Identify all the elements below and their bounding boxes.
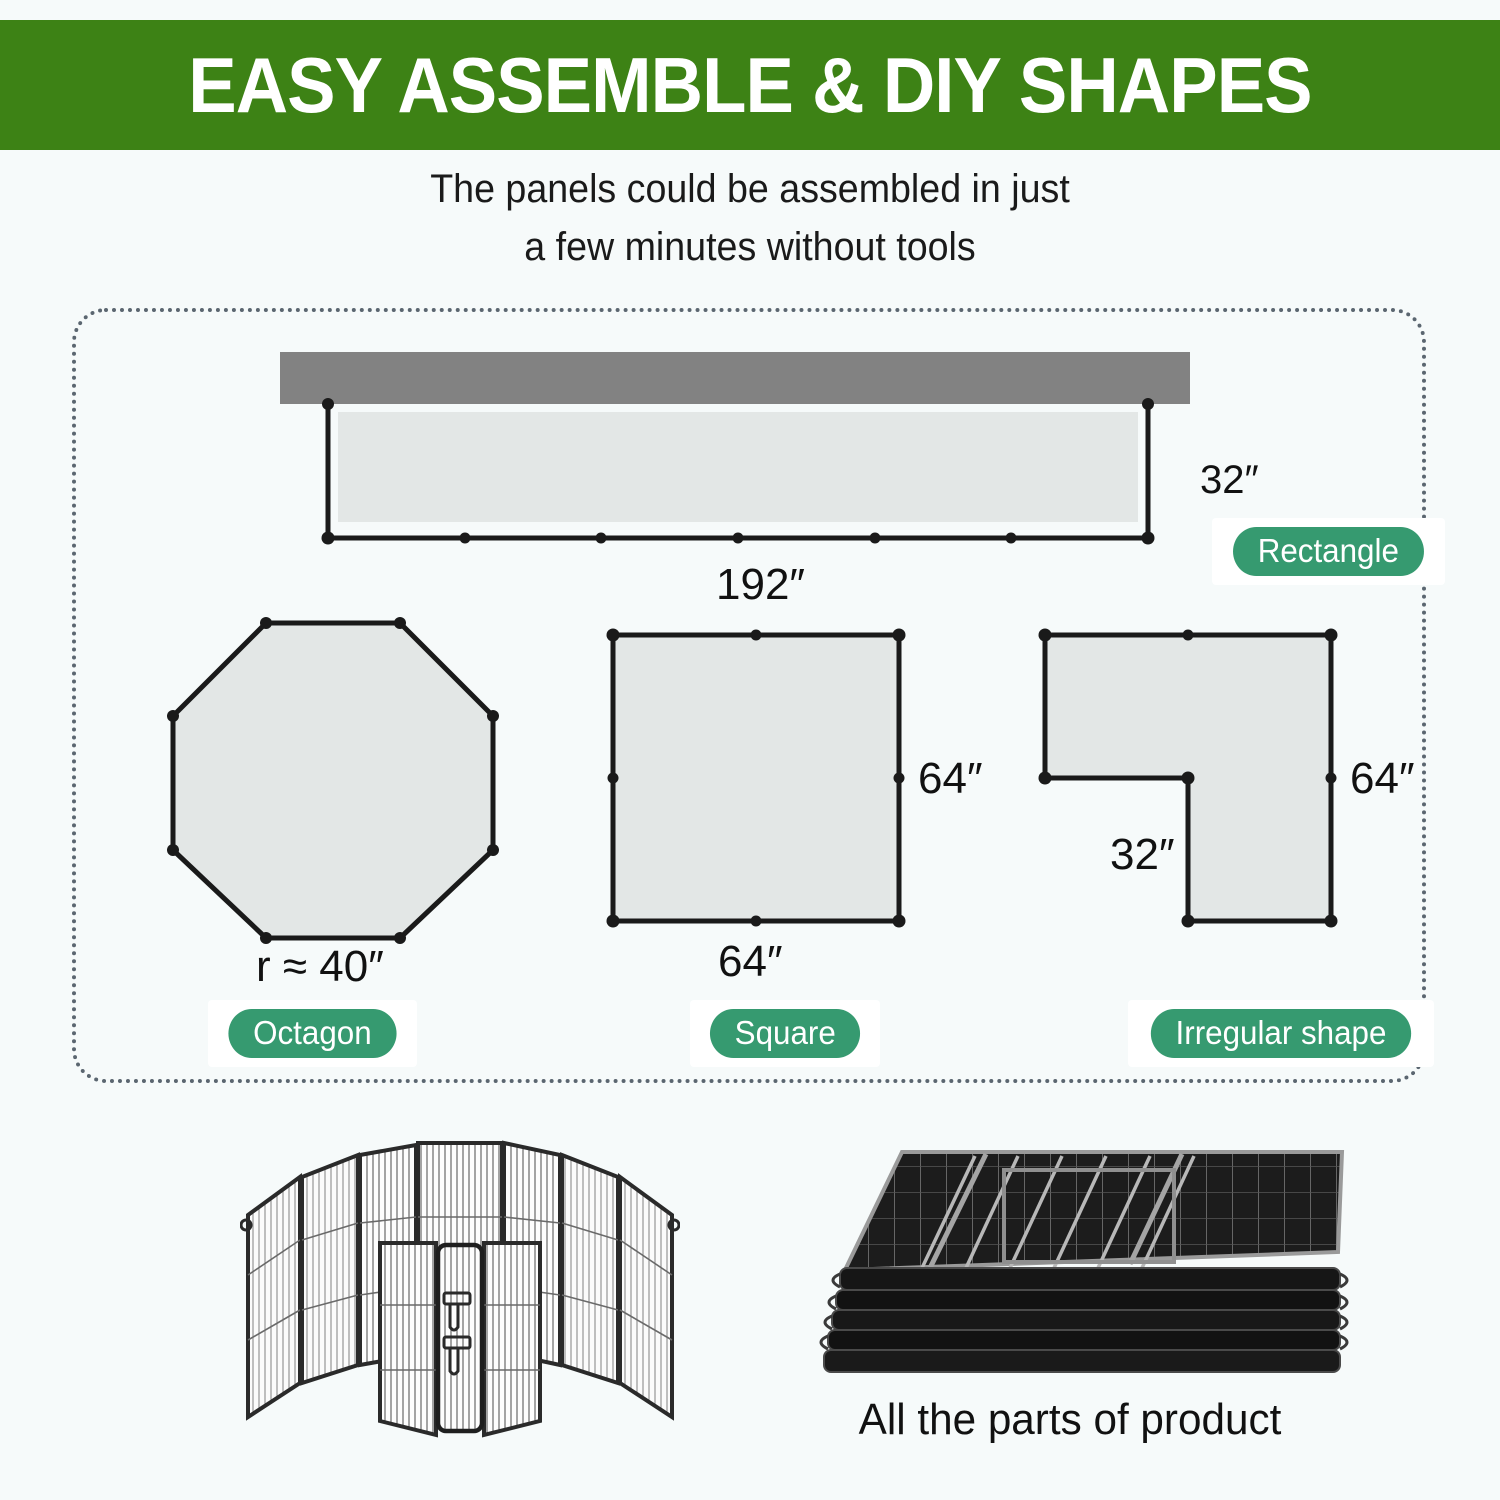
irregular-badge-wrap: Irregular shape	[1128, 1000, 1434, 1067]
square-badge-wrap: Square	[690, 1000, 880, 1067]
folded-stack-caption: All the parts of product	[782, 1395, 1358, 1445]
octagon-badge-wrap: Octagon	[208, 1000, 417, 1067]
irregular-height-label: 64″	[1350, 757, 1415, 801]
page-title: EASY ASSEMBLE & DIY SHAPES	[188, 46, 1311, 124]
header-banner: EASY ASSEMBLE & DIY SHAPES	[0, 20, 1500, 150]
rectangle-badge: Rectangle	[1233, 527, 1424, 576]
subtitle-line-1: The panels could be assembled in just	[45, 160, 1455, 218]
octagon-badge: Octagon	[228, 1009, 396, 1058]
octagon-diagram	[168, 618, 498, 938]
square-height-label: 64″	[918, 757, 983, 801]
stack-right-edges	[1340, 1274, 1347, 1349]
stack-layers	[824, 1268, 1340, 1372]
irregular-badge: Irregular shape	[1151, 1009, 1411, 1058]
irregular-diagram	[1040, 630, 1336, 926]
subtitle: The panels could be assembled in just a …	[45, 160, 1455, 276]
square-width-label: 64″	[718, 940, 783, 984]
rectangle-badge-wrap: Rectangle	[1212, 518, 1445, 585]
folded-stack-photo	[790, 1140, 1350, 1400]
rectangle-fill	[338, 412, 1138, 522]
rectangle-diagram	[270, 352, 1200, 567]
square-outline	[613, 635, 899, 921]
octagon-outline	[173, 623, 493, 938]
square-diagram	[608, 630, 904, 926]
playpen-gate	[438, 1245, 482, 1431]
square-badge: Square	[710, 1009, 861, 1058]
wall-bar	[280, 352, 1190, 404]
rectangle-width-label: 192″	[716, 563, 805, 607]
subtitle-line-2: a few minutes without tools	[45, 218, 1455, 276]
irregular-notch-label: 32″	[1110, 833, 1175, 877]
assembled-playpen-photo	[240, 1125, 680, 1455]
octagon-radius-label: r ≈ 40″	[256, 945, 384, 989]
rectangle-height-label: 32″	[1200, 460, 1259, 500]
